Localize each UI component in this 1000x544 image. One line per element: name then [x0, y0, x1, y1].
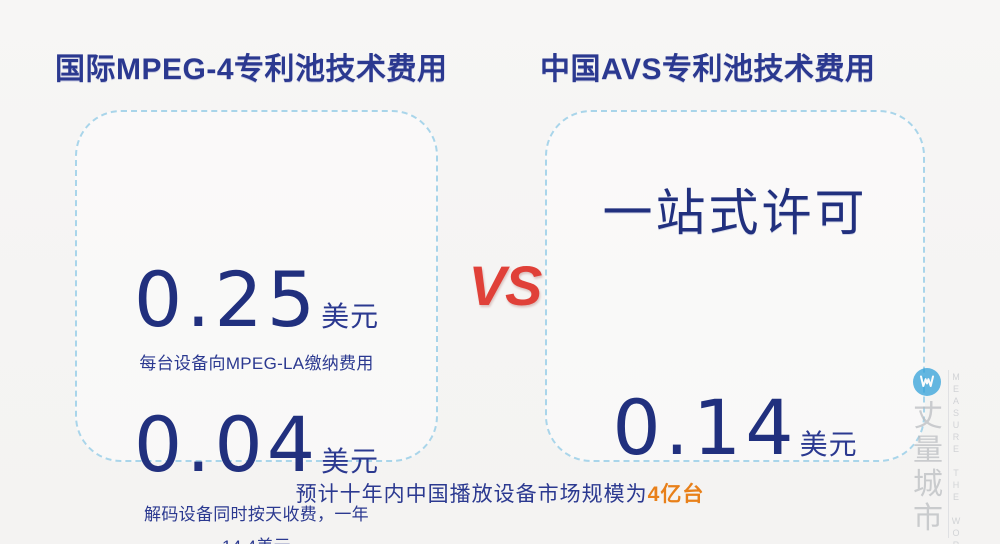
watermark: 丈 量 城 市 MEASURE THE WORLD	[903, 368, 983, 544]
footer-note: 预计十年内中国播放设备市场规模为4亿台	[0, 478, 1000, 508]
right-panel-title: 中国AVS专利池技术费用	[540, 44, 875, 88]
stat-row-avs: 0.14美元	[547, 390, 923, 466]
stat-caption-mpeg-per-day-line2: 14.4美元	[77, 532, 436, 544]
stat-value: 0.04	[134, 400, 319, 489]
measure-world-logo-icon	[913, 368, 941, 396]
left-panel-card: 0.25美元 每台设备向MPEG-LA缴纳费用 0.04美元 解码设备同时按天收…	[75, 110, 438, 462]
right-panel-card: 0.14美元	[545, 110, 925, 462]
stat-unit: 美元	[321, 446, 379, 477]
watermark-char: 市	[909, 502, 947, 536]
stat-row-mpeg-per-device: 0.25美元	[77, 262, 436, 338]
footer-highlight: 4亿台	[648, 483, 705, 506]
stat-caption-mpeg-per-device: 每台设备向MPEG-LA缴纳费用	[77, 349, 436, 378]
watermark-divider	[948, 370, 949, 538]
left-panel-title: 国际MPEG-4专利池技术费用	[55, 44, 448, 88]
watermark-char: 量	[909, 434, 947, 468]
watermark-chinese-text: 丈 量 城 市	[909, 400, 947, 536]
watermark-char: 丈	[909, 400, 947, 434]
versus-label: VS	[460, 253, 550, 318]
stat-unit: 美元	[321, 301, 379, 332]
watermark-english-text: MEASURE THE WORLD	[951, 372, 961, 532]
stat-value: 0.14	[612, 383, 797, 472]
stat-row-mpeg-per-day: 0.04美元	[77, 407, 436, 483]
footer-text: 预计十年内中国播放设备市场规模为	[296, 483, 648, 506]
right-panel-headline: 一站式许可	[545, 173, 925, 245]
infographic-poster: 国际MPEG-4专利池技术费用 中国AVS专利池技术费用 0.25美元 每台设备…	[0, 0, 1000, 544]
watermark-char: 城	[909, 468, 947, 502]
stat-value: 0.25	[134, 255, 319, 344]
stat-unit: 美元	[800, 429, 858, 460]
